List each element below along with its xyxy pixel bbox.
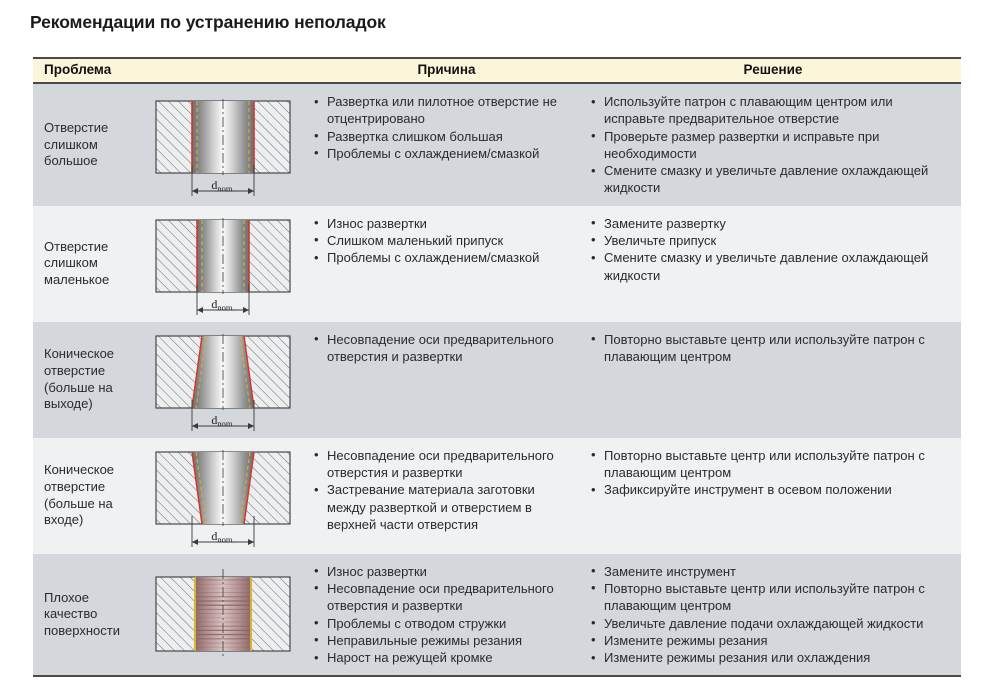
hole-diagram-poor-surface-finish (138, 554, 308, 676)
cell-problem: Отверстие слишком большое (33, 83, 138, 206)
list-item: Смените смазку и увеличьте давление охла… (589, 249, 953, 284)
table-row: Плохое качество поверхности Изно (33, 554, 961, 676)
list-item: Измените режимы резания (589, 632, 953, 649)
table: Проблема Причина Решение Отверстие слишк… (33, 59, 961, 675)
list-item: Проблемы с охлаждением/смазкой (312, 249, 577, 266)
svg-text:dnom.: dnom. (211, 178, 234, 194)
list-item: Износ развертки (312, 563, 577, 580)
list-item: Замените развертку (589, 215, 953, 232)
cell-problem: Коническое отверстие (больше на входе) (33, 438, 138, 554)
hole-diagram-taper-wider-at-exit: dnom. (138, 322, 308, 438)
table-body: Отверстие слишком большое (33, 83, 961, 675)
list-item: Смените смазку и увеличьте давление охла… (589, 162, 953, 197)
troubleshooting-table: Проблема Причина Решение Отверстие слишк… (33, 57, 961, 677)
svg-text:dnom.: dnom. (211, 413, 234, 429)
cause-list: Несовпадение оси предварительного отверс… (312, 447, 577, 533)
cell-solutions: Замените разверткуУвеличьте припускСмени… (585, 206, 961, 322)
hole-diagram-hole-too-large: dnom. (138, 83, 308, 206)
solution-list: Используйте патрон с плавающим центром и… (589, 93, 953, 197)
list-item: Повторно выставьте центр или используйте… (589, 331, 953, 366)
cause-list: Износ разверткиСлишком маленький припуск… (312, 215, 577, 267)
page-title: Рекомендации по устранению неполадок (30, 12, 386, 33)
cell-causes: Развертка или пилотное отверстие не отце… (308, 83, 585, 206)
table-row: Отверстие слишком большое (33, 83, 961, 206)
header-row: Проблема Причина Решение (33, 59, 961, 83)
list-item: Несовпадение оси предварительного отверс… (312, 580, 577, 615)
list-item: Измените режимы резания или охлаждения (589, 649, 953, 666)
table-row: Коническое отверстие (больше на входе) (33, 438, 961, 554)
cell-causes: Несовпадение оси предварительного отверс… (308, 438, 585, 554)
svg-text:dnom.: dnom. (211, 297, 234, 313)
column-header-problem: Проблема (33, 59, 308, 83)
cell-solutions: Повторно выставьте центр или используйте… (585, 322, 961, 438)
list-item: Увеличьте припуск (589, 232, 953, 249)
solution-list: Повторно выставьте центр или используйте… (589, 331, 953, 366)
list-item: Застревание материала заготовки между ра… (312, 481, 577, 533)
list-item: Увеличьте давление подачи охлаждающей жи… (589, 615, 953, 632)
list-item: Слишком маленький припуск (312, 232, 577, 249)
cell-solutions: Повторно выставьте центр или используйте… (585, 438, 961, 554)
cause-list: Износ разверткиНесовпадение оси предвари… (312, 563, 577, 667)
list-item: Используйте патрон с плавающим центром и… (589, 93, 953, 128)
cell-problem: Плохое качество поверхности (33, 554, 138, 676)
list-item: Развертка или пилотное отверстие не отце… (312, 93, 577, 128)
cell-problem: Коническое отверстие (больше на выходе) (33, 322, 138, 438)
solution-list: Повторно выставьте центр или используйте… (589, 447, 953, 499)
table-header: Проблема Причина Решение (33, 59, 961, 83)
column-header-cause: Причина (308, 59, 585, 83)
table-row: Отверстие слишком маленькое (33, 206, 961, 322)
hole-diagram-taper-wider-at-entry: dnom. (138, 438, 308, 554)
list-item: Неправильные режимы резания (312, 632, 577, 649)
list-item: Развертка слишком большая (312, 128, 577, 145)
solution-list: Замените инструментПовторно выставьте це… (589, 563, 953, 667)
list-item: Проблемы с отводом стружки (312, 615, 577, 632)
list-item: Несовпадение оси предварительного отверс… (312, 331, 577, 366)
list-item: Износ развертки (312, 215, 577, 232)
solution-list: Замените разверткуУвеличьте припускСмени… (589, 215, 953, 284)
cell-causes: Износ разверткиСлишком маленький припуск… (308, 206, 585, 322)
list-item: Повторно выставьте центр или используйте… (589, 580, 953, 615)
list-item: Повторно выставьте центр или используйте… (589, 447, 953, 482)
list-item: Зафиксируйте инструмент в осевом положен… (589, 481, 953, 498)
cause-list: Несовпадение оси предварительного отверс… (312, 331, 577, 366)
list-item: Замените инструмент (589, 563, 953, 580)
page-root: Рекомендации по устранению неполадок Про… (0, 0, 990, 697)
cell-solutions: Замените инструментПовторно выставьте це… (585, 554, 961, 676)
cell-solutions: Используйте патрон с плавающим центром и… (585, 83, 961, 206)
cause-list: Развертка или пилотное отверстие не отце… (312, 93, 577, 162)
table-row: Коническое отверстие (больше на выходе) (33, 322, 961, 438)
svg-text:dnom.: dnom. (211, 529, 234, 545)
cell-problem: Отверстие слишком маленькое (33, 206, 138, 322)
hole-diagram-hole-too-small: dnom. (138, 206, 308, 322)
list-item: Проблемы с охлаждением/смазкой (312, 145, 577, 162)
cell-causes: Несовпадение оси предварительного отверс… (308, 322, 585, 438)
list-item: Несовпадение оси предварительного отверс… (312, 447, 577, 482)
cell-causes: Износ разверткиНесовпадение оси предвари… (308, 554, 585, 676)
list-item: Нарост на режущей кромке (312, 649, 577, 666)
column-header-solution: Решение (585, 59, 961, 83)
list-item: Проверьте размер развертки и исправьте п… (589, 128, 953, 163)
